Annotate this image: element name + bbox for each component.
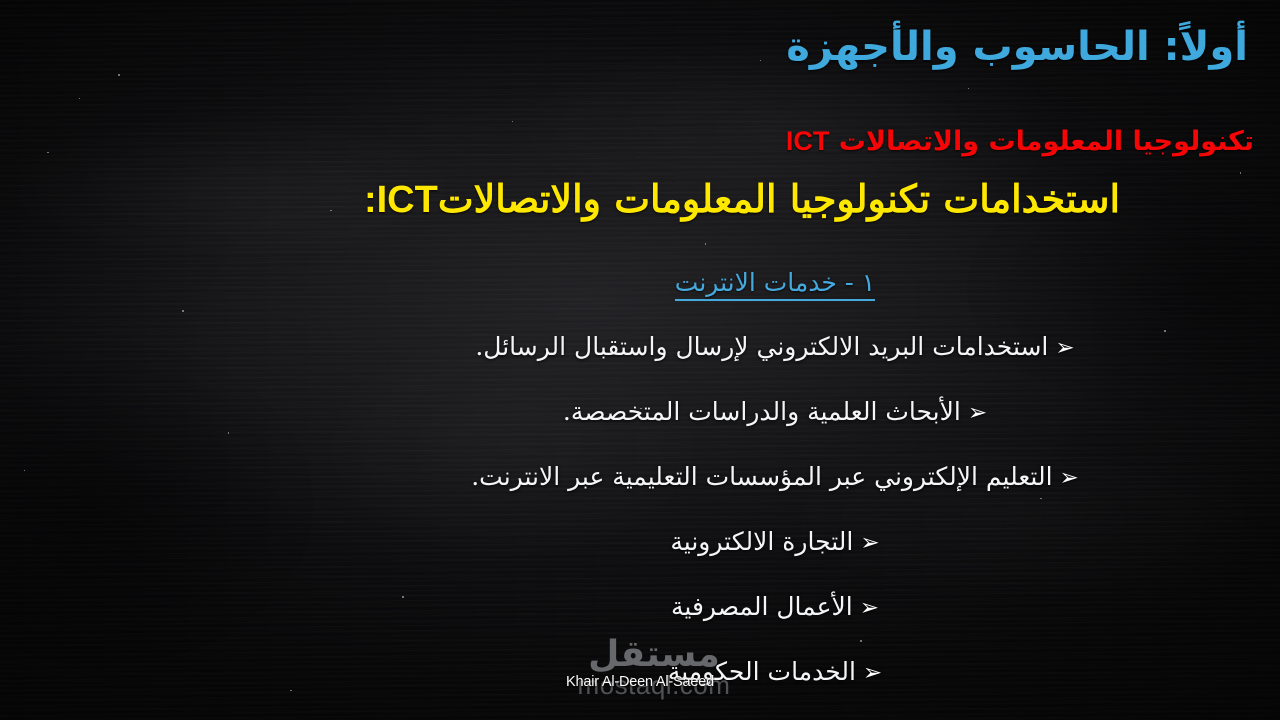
arrow-bullet-icon: ➢: [860, 532, 879, 555]
list-item-label: الأبحاث العلمية والدراسات المتخصصة.: [563, 397, 961, 426]
list-item: ➢ التجارة الالكترونية: [0, 527, 1280, 592]
list-item: ➢ استخدامات البريد الالكتروني لإرسال واس…: [0, 332, 1280, 397]
list-item-label: التجارة الالكترونية: [670, 527, 853, 556]
page-title: أولاً: الحاسوب والأجهزة: [786, 24, 1248, 70]
list-item-label: التعليم الإلكتروني عبر المؤسسات التعليمي…: [471, 462, 1052, 491]
yellow-heading: استخدامات تكنولوجيا المعلومات والاتصالات…: [242, 176, 1242, 222]
red-subtitle-arabic: تكنولوجيا المعلومات والاتصالات: [829, 126, 1254, 157]
slide-content: أولاً: الحاسوب والأجهزة تكنولوجيا المعلو…: [0, 0, 1280, 720]
yellow-heading-arabic: استخدامات تكنولوجيا المعلومات والاتصالات: [438, 176, 1120, 221]
list-item: ➢ الأبحاث العلمية والدراسات المتخصصة.: [0, 397, 1280, 462]
bullet-list: ➢ استخدامات البريد الالكتروني لإرسال واس…: [0, 332, 1280, 720]
author-credit: Khair Al-Deen Al-Saeed: [566, 674, 714, 690]
red-subtitle: تكنولوجيا المعلومات والاتصالات ICT: [786, 126, 1254, 157]
section-heading: ١ - خدمات الانترنت: [0, 268, 1280, 297]
section-heading-label: ١ - خدمات الانترنت: [675, 268, 875, 301]
yellow-heading-acronym: ICT:: [364, 179, 438, 221]
list-item-label: استخدامات البريد الالكتروني لإرسال واستق…: [475, 332, 1048, 361]
red-subtitle-acronym: ICT: [786, 126, 830, 156]
arrow-bullet-icon: ➢: [1055, 337, 1074, 360]
list-item-label: الأعمال المصرفية: [671, 592, 853, 621]
arrow-bullet-icon: ➢: [860, 597, 879, 620]
chalkboard-slide: أولاً: الحاسوب والأجهزة تكنولوجيا المعلو…: [0, 0, 1280, 720]
arrow-bullet-icon: ➢: [1060, 467, 1079, 490]
arrow-bullet-icon: ➢: [968, 402, 987, 425]
arrow-bullet-icon: ➢: [863, 662, 882, 685]
list-item: ➢ الأعمال المصرفية: [0, 592, 1280, 657]
list-item: ➢ التعليم الإلكتروني عبر المؤسسات التعلي…: [0, 462, 1280, 527]
